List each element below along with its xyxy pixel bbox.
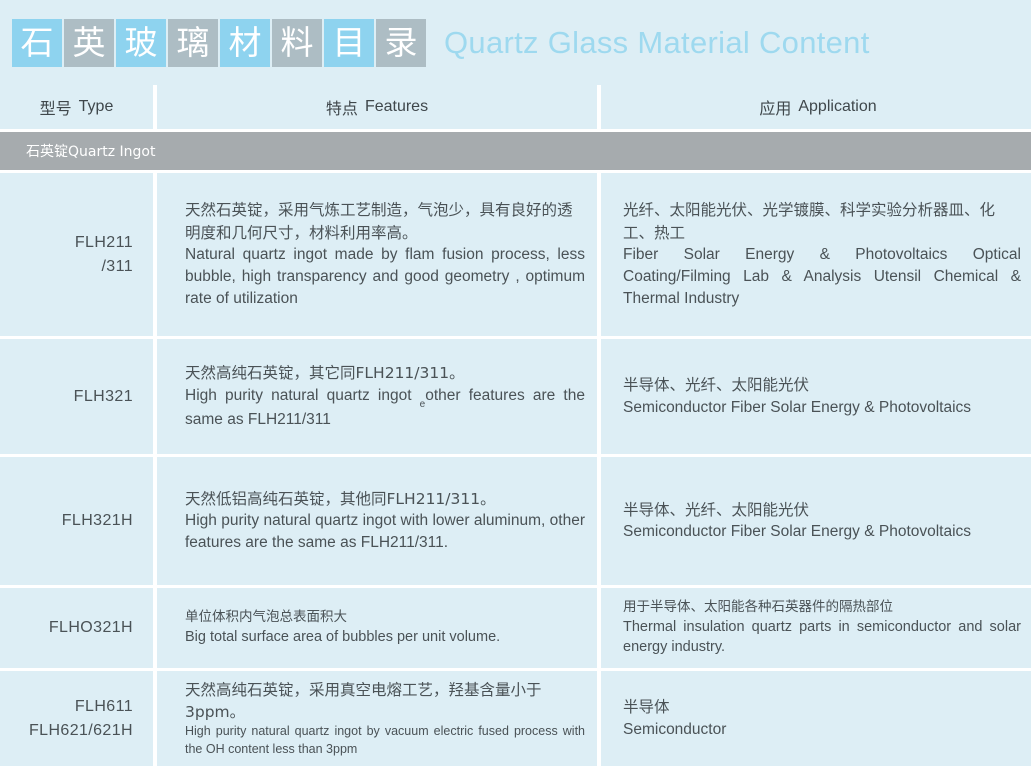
features-en: Natural quartz ingot made by flam fusion… [185,244,585,310]
features-en: High purity natural quartz ingot eother … [185,385,585,431]
column-header-type: 型号 Type [0,85,153,129]
table-header-row: 型号 Type 特点 Features 应用 Application [0,85,1031,129]
column-header-application-en: Application [798,98,876,116]
section-band-quartz-ingot: 石英锭Quartz Ingot [0,132,1031,170]
application-cn: 半导体、光纤、太阳能光伏 [623,374,1021,396]
column-header-application: 应用 Application [601,85,1031,129]
application-en: Thermal insulation quartz parts in semic… [623,617,1021,658]
row-type-flho321h: FLHO321H [0,588,153,668]
row-features-flh211: 天然石英锭，采用气炼工艺制造，气泡少，具有良好的透明度和几何尺寸，材料利用率高。… [157,173,597,336]
features-cn: 天然低铝高纯石英锭，其他同FLH211/311。 [185,488,585,510]
table-row: FLH321 天然高纯石英锭，其它同FLH211/311。 High purit… [0,339,1031,454]
catalog-page: 石 英 玻 璃 材 料 目 录 Quartz Glass Material Co… [0,0,1031,763]
column-header-application-cn: 应用 [759,95,791,119]
row-type-flh321: FLH321 [0,339,153,454]
column-header-type-cn: 型号 [40,95,72,119]
row-application-flh321: 半导体、光纤、太阳能光伏 Semiconductor Fiber Solar E… [601,339,1031,454]
application-en: Fiber Solar Energy & Photovoltaics Optic… [623,244,1021,310]
title-char-tile-5: 材 [220,19,270,67]
table-row: FLH321H 天然低铝高纯石英锭，其他同FLH211/311。 High pu… [0,457,1031,585]
column-header-features: 特点 Features [157,85,597,129]
table-row: FLHO321H 单位体积内气泡总表面积大 Big total surface … [0,588,1031,668]
row-features-flho321h: 单位体积内气泡总表面积大 Big total surface area of b… [157,588,597,668]
material-table: 型号 Type 特点 Features 应用 Application 石英锭Qu… [0,85,1031,766]
title-char-tile-1: 石 [12,19,62,67]
application-en: Semiconductor Fiber Solar Energy & Photo… [623,521,1021,543]
title-char-tile-3: 玻 [116,19,166,67]
column-header-features-cn: 特点 [326,95,358,119]
features-en: High purity natural quartz ingot with lo… [185,510,585,554]
row-application-flh321h: 半导体、光纤、太阳能光伏 Semiconductor Fiber Solar E… [601,457,1031,585]
features-en: High purity natural quartz ingot by vacu… [185,723,585,758]
features-cn: 天然高纯石英锭，其它同FLH211/311。 [185,362,585,384]
application-cn: 用于半导体、太阳能各种石英器件的隔热部位 [623,598,1021,617]
features-cn: 单位体积内气泡总表面积大 [185,608,585,627]
row-type-flh611: FLH611 FLH621/621H [0,671,153,766]
features-en-pre: High purity natural quartz ingot [185,387,420,404]
features-en: Big total surface area of bubbles per un… [185,627,585,648]
row-type-flh321h: FLH321H [0,457,153,585]
table-row: FLH211 /311 天然石英锭，采用气炼工艺制造，气泡少，具有良好的透明度和… [0,173,1031,336]
row-application-flh611: 半导体 Semiconductor [601,671,1031,766]
section-band-row: 石英锭Quartz Ingot [0,132,1031,170]
row-features-flh321: 天然高纯石英锭，其它同FLH211/311。 High purity natur… [157,339,597,454]
features-cn: 天然高纯石英锭，采用真空电熔工艺，羟基含量小于3ppm。 [185,679,585,724]
table-row: FLH611 FLH621/621H 天然高纯石英锭，采用真空电熔工艺，羟基含量… [0,671,1031,766]
application-cn: 光纤、太阳能光伏、光学镀膜、科学实验分析器皿、化工、热工 [623,199,1021,244]
row-type-flh211: FLH211 /311 [0,173,153,336]
application-cn: 半导体 [623,696,1021,718]
row-features-flh321h: 天然低铝高纯石英锭，其他同FLH211/311。 High purity nat… [157,457,597,585]
title-char-tile-6: 料 [272,19,322,67]
application-cn: 半导体、光纤、太阳能光伏 [623,499,1021,521]
application-en: Semiconductor [623,719,1021,741]
row-features-flh611: 天然高纯石英锭，采用真空电熔工艺，羟基含量小于3ppm。 High purity… [157,671,597,766]
title-banner: 石 英 玻 璃 材 料 目 录 Quartz Glass Material Co… [0,0,1031,85]
title-char-tile-7: 目 [324,19,374,67]
title-char-tile-4: 璃 [168,19,218,67]
title-char-tile-8: 录 [376,19,426,67]
features-en-subscript: e [420,398,426,412]
column-header-features-en: Features [365,98,428,116]
title-char-tile-2: 英 [64,19,114,67]
features-cn: 天然石英锭，采用气炼工艺制造，气泡少，具有良好的透明度和几何尺寸，材料利用率高。 [185,199,585,244]
row-application-flh211: 光纤、太阳能光伏、光学镀膜、科学实验分析器皿、化工、热工 Fiber Solar… [601,173,1031,336]
application-en: Semiconductor Fiber Solar Energy & Photo… [623,397,1021,419]
title-character-tiles: 石 英 玻 璃 材 料 目 录 [12,19,426,67]
row-application-flho321h: 用于半导体、太阳能各种石英器件的隔热部位 Thermal insulation … [601,588,1031,668]
title-english: Quartz Glass Material Content [444,25,870,61]
column-header-type-en: Type [79,98,114,116]
